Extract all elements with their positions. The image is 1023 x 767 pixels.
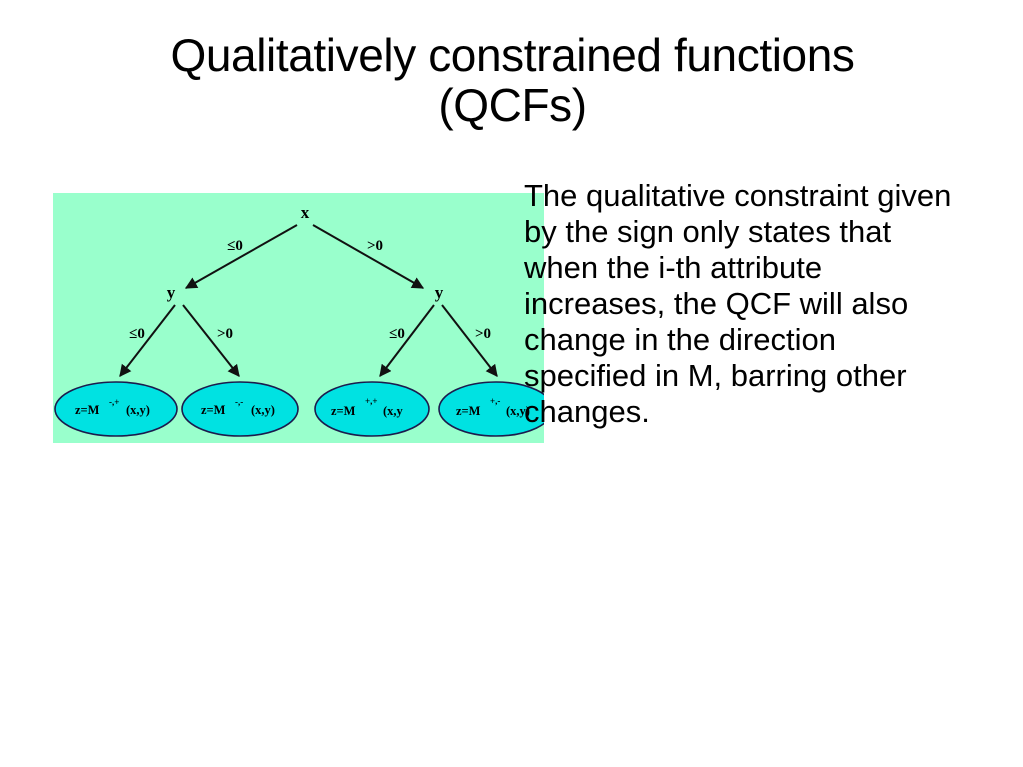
tree-leaf-3-prefix: z=M <box>331 404 356 418</box>
tree-edge-label-root-left: ≤0 <box>227 238 243 254</box>
tree-leaf-1-prefix: z=M <box>75 403 100 417</box>
tree-leaf-4-prefix: z=M <box>456 404 481 418</box>
tree-edge-label-yright-left: ≤0 <box>389 326 405 342</box>
tree-leaf-node-1 <box>55 382 177 436</box>
tree-edge-label-yright-right: >0 <box>475 326 491 342</box>
tree-leaf-3-sup: +,+ <box>365 396 378 406</box>
tree-edge-label-yleft-left: ≤0 <box>129 326 145 342</box>
tree-leaf-4-sup: +,- <box>490 396 500 406</box>
slide-canvas: Qualitatively constrained functions (QCF… <box>0 0 1023 767</box>
tree-edge-root-left <box>186 225 297 288</box>
tree-leaf-2-suffix: (x,y) <box>251 403 275 417</box>
tree-leaf-2-sup: -,- <box>235 397 243 407</box>
tree-leaf-3-suffix: (x,y <box>383 404 404 418</box>
tree-node-y-right: y <box>435 283 444 302</box>
tree-edge-yright-left <box>380 305 434 376</box>
tree-node-y-left: y <box>167 283 176 302</box>
tree-leaf-node-2 <box>182 382 298 436</box>
tree-leaf-2-prefix: z=M <box>201 403 226 417</box>
page-title: Qualitatively constrained functions (QCF… <box>70 30 955 130</box>
tree-edge-root-right <box>313 225 423 288</box>
decision-tree-graphic: x ≤0 >0 y y ≤0 >0 ≤0 >0 <box>53 193 544 443</box>
tree-edge-label-root-right: >0 <box>367 238 383 254</box>
tree-edge-label-yleft-right: >0 <box>217 326 233 342</box>
qcf-decision-tree-figure: x ≤0 >0 y y ≤0 >0 ≤0 >0 <box>53 193 544 443</box>
body-paragraph: The qualitative constraint given by the … <box>524 178 956 430</box>
tree-leaf-1-sup: -,+ <box>109 397 119 407</box>
tree-node-root-x: x <box>301 203 310 222</box>
tree-leaf-1-suffix: (x,y) <box>126 403 150 417</box>
